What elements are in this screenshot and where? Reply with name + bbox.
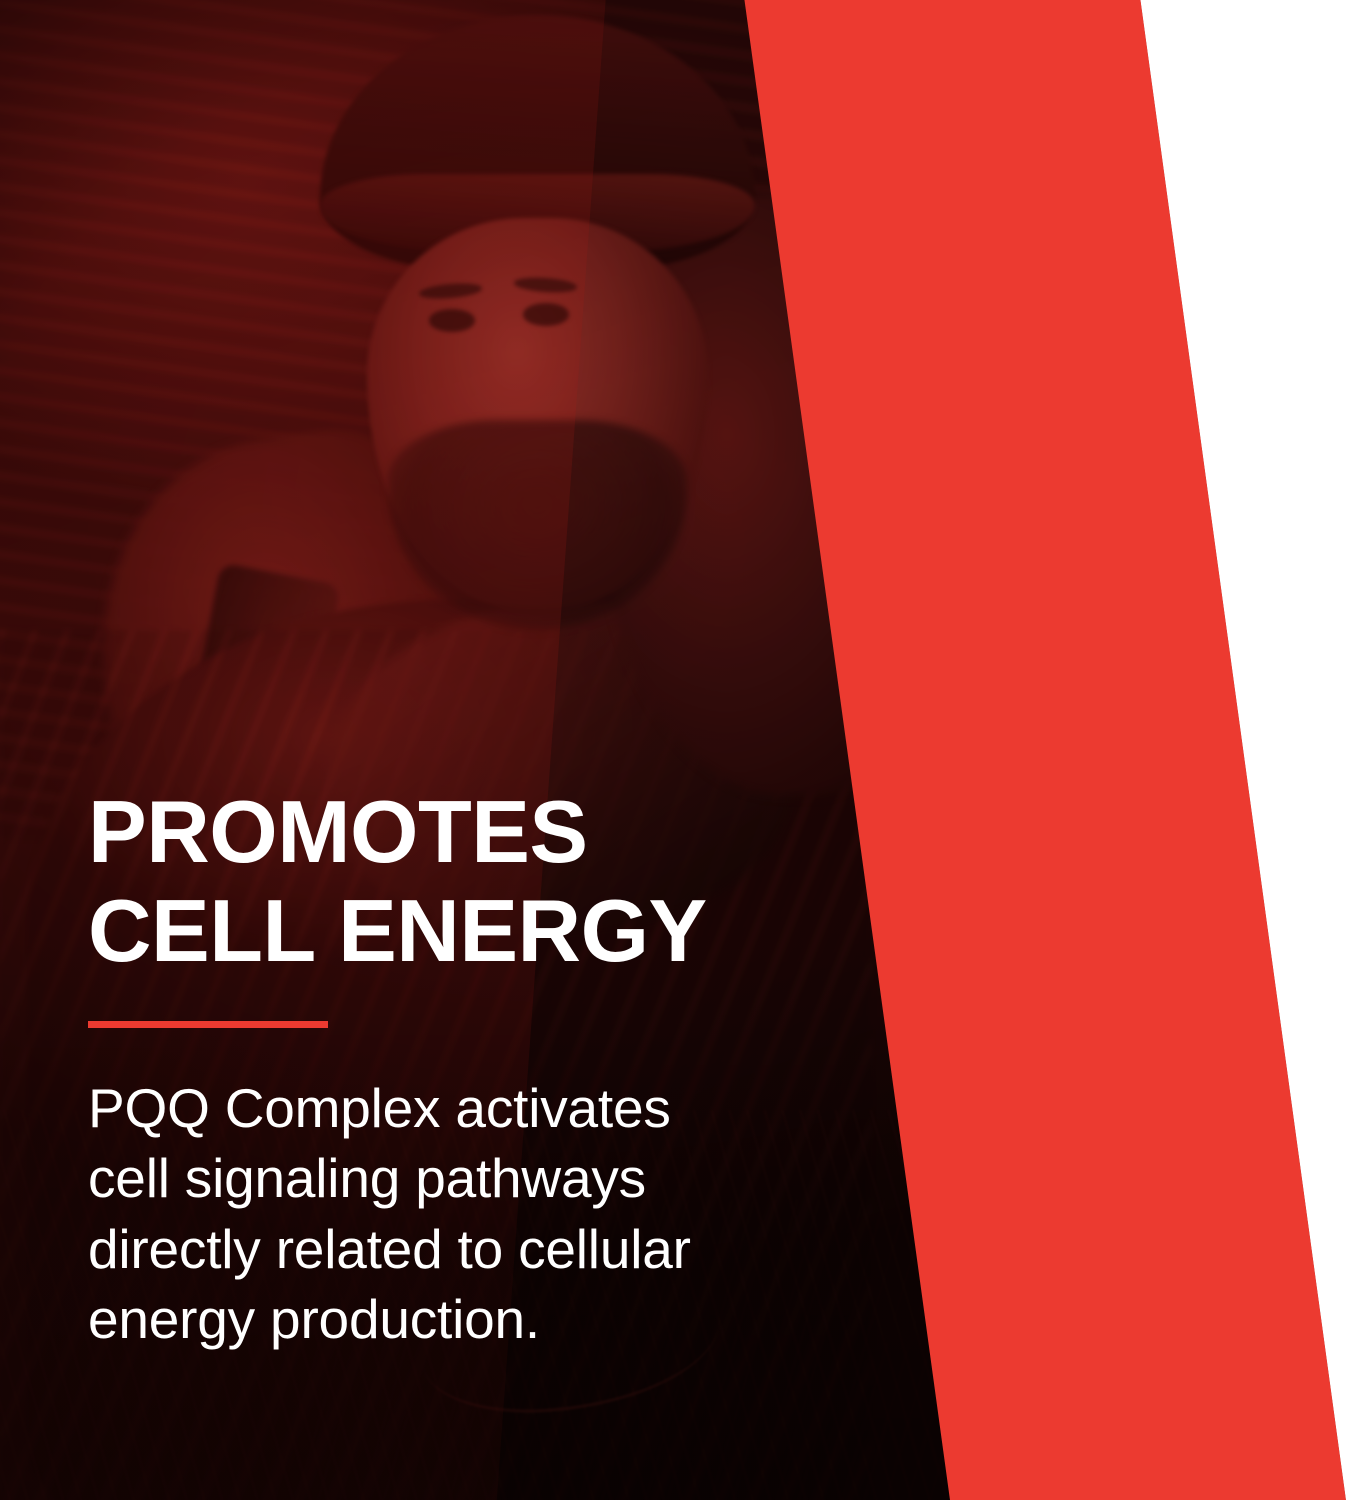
headline-line-1: PROMOTES xyxy=(88,783,778,882)
promo-poster: PROMOTES CELL ENERGY PQQ Complex activat… xyxy=(0,0,1361,1500)
accent-rule xyxy=(88,1021,328,1028)
headline-line-2: CELL ENERGY xyxy=(88,882,778,981)
body-copy: PQQ Complex activates cell signaling pat… xyxy=(88,1073,748,1355)
text-block: PROMOTES CELL ENERGY PQQ Complex activat… xyxy=(88,783,778,1355)
headline: PROMOTES CELL ENERGY xyxy=(88,783,778,980)
